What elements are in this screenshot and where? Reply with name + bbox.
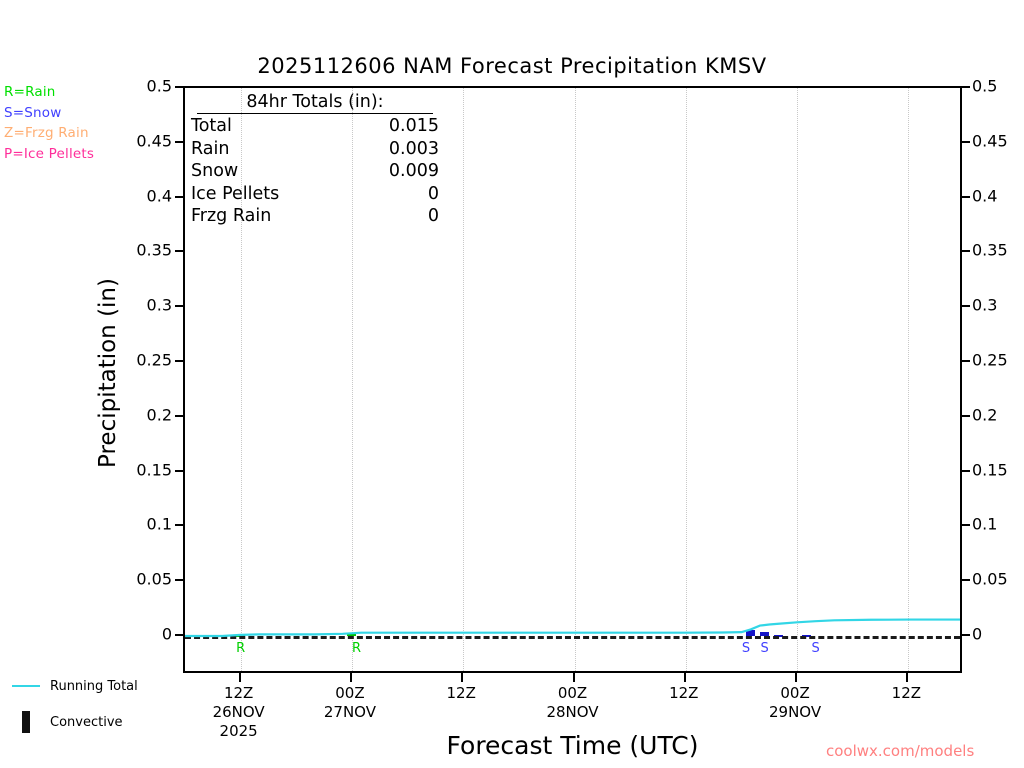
- y-tick-mark: [175, 141, 183, 143]
- x-tick-label: 00Z27NOV: [324, 684, 376, 722]
- x-tick-time: 12Z: [447, 684, 476, 703]
- y-tick-mark: [175, 86, 183, 88]
- x-tick-mark: [684, 673, 686, 682]
- y-tick-label-left: 0.05: [136, 570, 172, 589]
- y-tick-label-left: 0.3: [147, 296, 172, 315]
- x-tick-mark: [239, 673, 241, 682]
- chart-legend: Running TotalConvective: [10, 668, 180, 740]
- x-tick-label: 00Z29NOV: [769, 684, 821, 722]
- y-axis-title: Precipitation (in): [95, 253, 121, 493]
- running-total-line: [185, 620, 960, 636]
- y-tick-mark: [175, 470, 183, 472]
- x-tick-time: 00Z: [324, 684, 376, 703]
- legend-label: Running Total: [50, 679, 138, 694]
- ptype-marker-s: S: [742, 641, 750, 656]
- ptype-marker-r: R: [352, 641, 361, 656]
- y-tick-label-left: 0.4: [147, 186, 172, 205]
- plot-inner: 84hr Totals (in):Total0.015Rain0.003Snow…: [185, 88, 960, 671]
- y-tick-label-right: 0.35: [972, 241, 1008, 260]
- ptype-legend-item-0: R=Rain: [4, 82, 94, 103]
- y-tick-mark: [962, 305, 970, 307]
- y-tick-mark: [962, 141, 970, 143]
- y-tick-mark: [175, 634, 183, 636]
- x-tick-time: 12Z: [669, 684, 698, 703]
- y-tick-mark: [962, 415, 970, 417]
- x-tick-mark: [906, 673, 908, 682]
- legend-bar-swatch: [22, 711, 30, 733]
- y-tick-label-left: 0.15: [136, 460, 172, 479]
- y-tick-mark: [962, 360, 970, 362]
- y-tick-label-right: 0.05: [972, 570, 1008, 589]
- legend-swatch: [10, 685, 42, 687]
- legend-item-convective: Convective: [10, 704, 180, 740]
- x-tick-label: 12Z: [669, 684, 698, 703]
- y-tick-mark: [962, 579, 970, 581]
- x-tick-time: 00Z: [769, 684, 821, 703]
- y-tick-mark: [962, 524, 970, 526]
- y-tick-mark: [175, 415, 183, 417]
- x-tick-time: 12Z: [892, 684, 921, 703]
- y-tick-label-left: 0.1: [147, 515, 172, 534]
- y-tick-label-right: 0.1: [972, 515, 997, 534]
- ptype-legend-item-1: S=Snow: [4, 103, 94, 124]
- x-tick-label: 12Z: [892, 684, 921, 703]
- y-tick-mark: [962, 470, 970, 472]
- x-tick-mark: [350, 673, 352, 682]
- page-title: 2025112606 NAM Forecast Precipitation KM…: [0, 54, 1024, 78]
- legend-line-swatch: [12, 685, 40, 687]
- legend-swatch: [10, 711, 42, 733]
- y-axis-labels-right: 00.050.10.150.20.250.30.350.40.450.5: [972, 86, 1024, 634]
- series-layer: [185, 88, 960, 671]
- y-tick-mark: [175, 360, 183, 362]
- ptype-marker-s: S: [811, 641, 819, 656]
- legend-item-running-total: Running Total: [10, 668, 180, 704]
- x-tick-date: 27NOV: [324, 703, 376, 722]
- y-tick-mark: [175, 196, 183, 198]
- x-tick-date: 29NOV: [769, 703, 821, 722]
- x-tick-time: 12Z: [213, 684, 265, 703]
- y-tick-label-left: 0.45: [136, 131, 172, 150]
- ptype-legend-item-2: Z=Frzg Rain: [4, 123, 94, 144]
- y-tick-mark: [175, 305, 183, 307]
- x-tick-mark: [795, 673, 797, 682]
- x-tick-label: 00Z28NOV: [546, 684, 598, 722]
- y-tick-label-right: 0.25: [972, 351, 1008, 370]
- ptype-marker-r: R: [236, 641, 245, 656]
- x-tick-date: 26NOV: [213, 703, 265, 722]
- x-tick-mark: [461, 673, 463, 682]
- y-tick-label-left: 0.2: [147, 405, 172, 424]
- y-tick-label-left: 0.5: [147, 77, 172, 96]
- x-tick-time: 00Z: [546, 684, 598, 703]
- y-tick-mark: [962, 250, 970, 252]
- legend-label: Convective: [50, 715, 123, 730]
- y-tick-label-right: 0.45: [972, 131, 1008, 150]
- plot-area: 84hr Totals (in):Total0.015Rain0.003Snow…: [183, 86, 962, 673]
- y-tick-mark: [962, 196, 970, 198]
- y-tick-mark: [962, 634, 970, 636]
- y-tick-label-right: 0.4: [972, 186, 997, 205]
- y-tick-label-right: 0.3: [972, 296, 997, 315]
- y-tick-label-right: 0: [972, 625, 982, 644]
- y-tick-label-right: 0.2: [972, 405, 997, 424]
- x-tick-date: 28NOV: [546, 703, 598, 722]
- y-tick-label-right: 0.5: [972, 77, 997, 96]
- x-tick-label: 12Z: [447, 684, 476, 703]
- y-tick-label-left: 0.25: [136, 351, 172, 370]
- x-tick-mark: [573, 673, 575, 682]
- y-tick-label-left: 0: [162, 625, 172, 644]
- y-tick-label-left: 0.35: [136, 241, 172, 260]
- watermark: coolwx.com/models: [826, 742, 974, 760]
- y-tick-mark: [175, 250, 183, 252]
- y-tick-mark: [962, 86, 970, 88]
- y-tick-mark: [175, 579, 183, 581]
- ptype-legend-item-3: P=Ice Pellets: [4, 144, 94, 165]
- y-tick-mark: [175, 524, 183, 526]
- precip-type-legend: R=RainS=SnowZ=Frzg RainP=Ice Pellets: [4, 82, 94, 164]
- y-tick-label-right: 0.15: [972, 460, 1008, 479]
- ptype-marker-s: S: [760, 641, 768, 656]
